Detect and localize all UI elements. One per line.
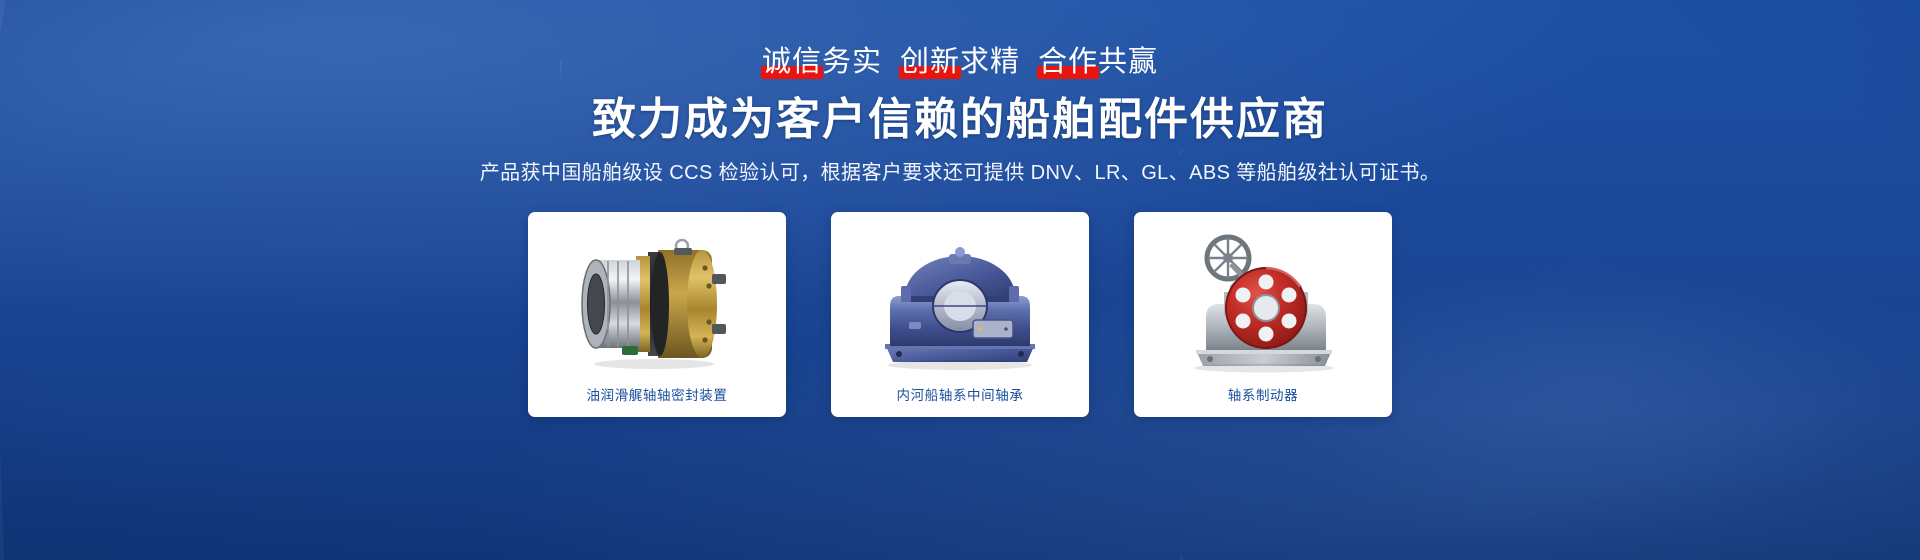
tagline-rest-text-1: 务实 xyxy=(822,46,882,78)
product-card-media xyxy=(1134,212,1392,390)
tagline-highlight-3: 合作 xyxy=(1038,48,1098,77)
product-card-media xyxy=(528,212,786,390)
product-card-caption: 内河船轴系中间轴承 xyxy=(831,389,1089,417)
shafting-brake-image xyxy=(1168,234,1358,374)
product-card[interactable]: 内河船轴系中间轴承 xyxy=(831,212,1089,417)
tagline-highlight-text-2: 创新 xyxy=(900,46,960,78)
tagline-phrase-3: 合作共赢 xyxy=(1038,48,1158,77)
hero-banner: 诚信务实 创新求精 合作共赢 致力成为客户信赖的船舶配件供应商 产品获中国船舶级… xyxy=(0,0,1920,560)
tagline-highlight-text-1: 诚信 xyxy=(762,46,822,78)
oil-lubricated-stern-shaft-seal-image xyxy=(562,234,752,374)
company-tagline: 诚信务实 创新求精 合作共赢 xyxy=(0,0,1920,77)
inland-vessel-intermediate-bearing-image xyxy=(865,234,1055,374)
product-card-caption: 油润滑艉轴轴密封装置 xyxy=(528,389,786,417)
tagline-highlight-text-3: 合作 xyxy=(1038,46,1098,78)
banner-subtitle: 产品获中国船舶级设 CCS 检验认可，根据客户要求还可提供 DNV、LR、GL、… xyxy=(0,146,1920,186)
tagline-phrase-1: 诚信务实 xyxy=(762,48,882,77)
product-card[interactable]: 轴系制动器 xyxy=(1134,212,1392,417)
tagline-rest-text-3: 共赢 xyxy=(1098,46,1158,78)
banner-headline: 致力成为客户信赖的船舶配件供应商 xyxy=(0,77,1920,146)
tagline-highlight-2: 创新 xyxy=(900,48,960,77)
tagline-highlight-1: 诚信 xyxy=(762,48,822,77)
tagline-phrase-2: 创新求精 xyxy=(900,48,1020,77)
product-card[interactable]: 油润滑艉轴轴密封装置 xyxy=(528,212,786,417)
banner-content: 诚信务实 创新求精 合作共赢 致力成为客户信赖的船舶配件供应商 产品获中国船舶级… xyxy=(0,0,1920,417)
product-card-media xyxy=(831,212,1089,390)
product-card-list: 油润滑艉轴轴密封装置 xyxy=(0,186,1920,417)
product-card-caption: 轴系制动器 xyxy=(1134,389,1392,417)
tagline-rest-text-2: 求精 xyxy=(960,46,1020,78)
